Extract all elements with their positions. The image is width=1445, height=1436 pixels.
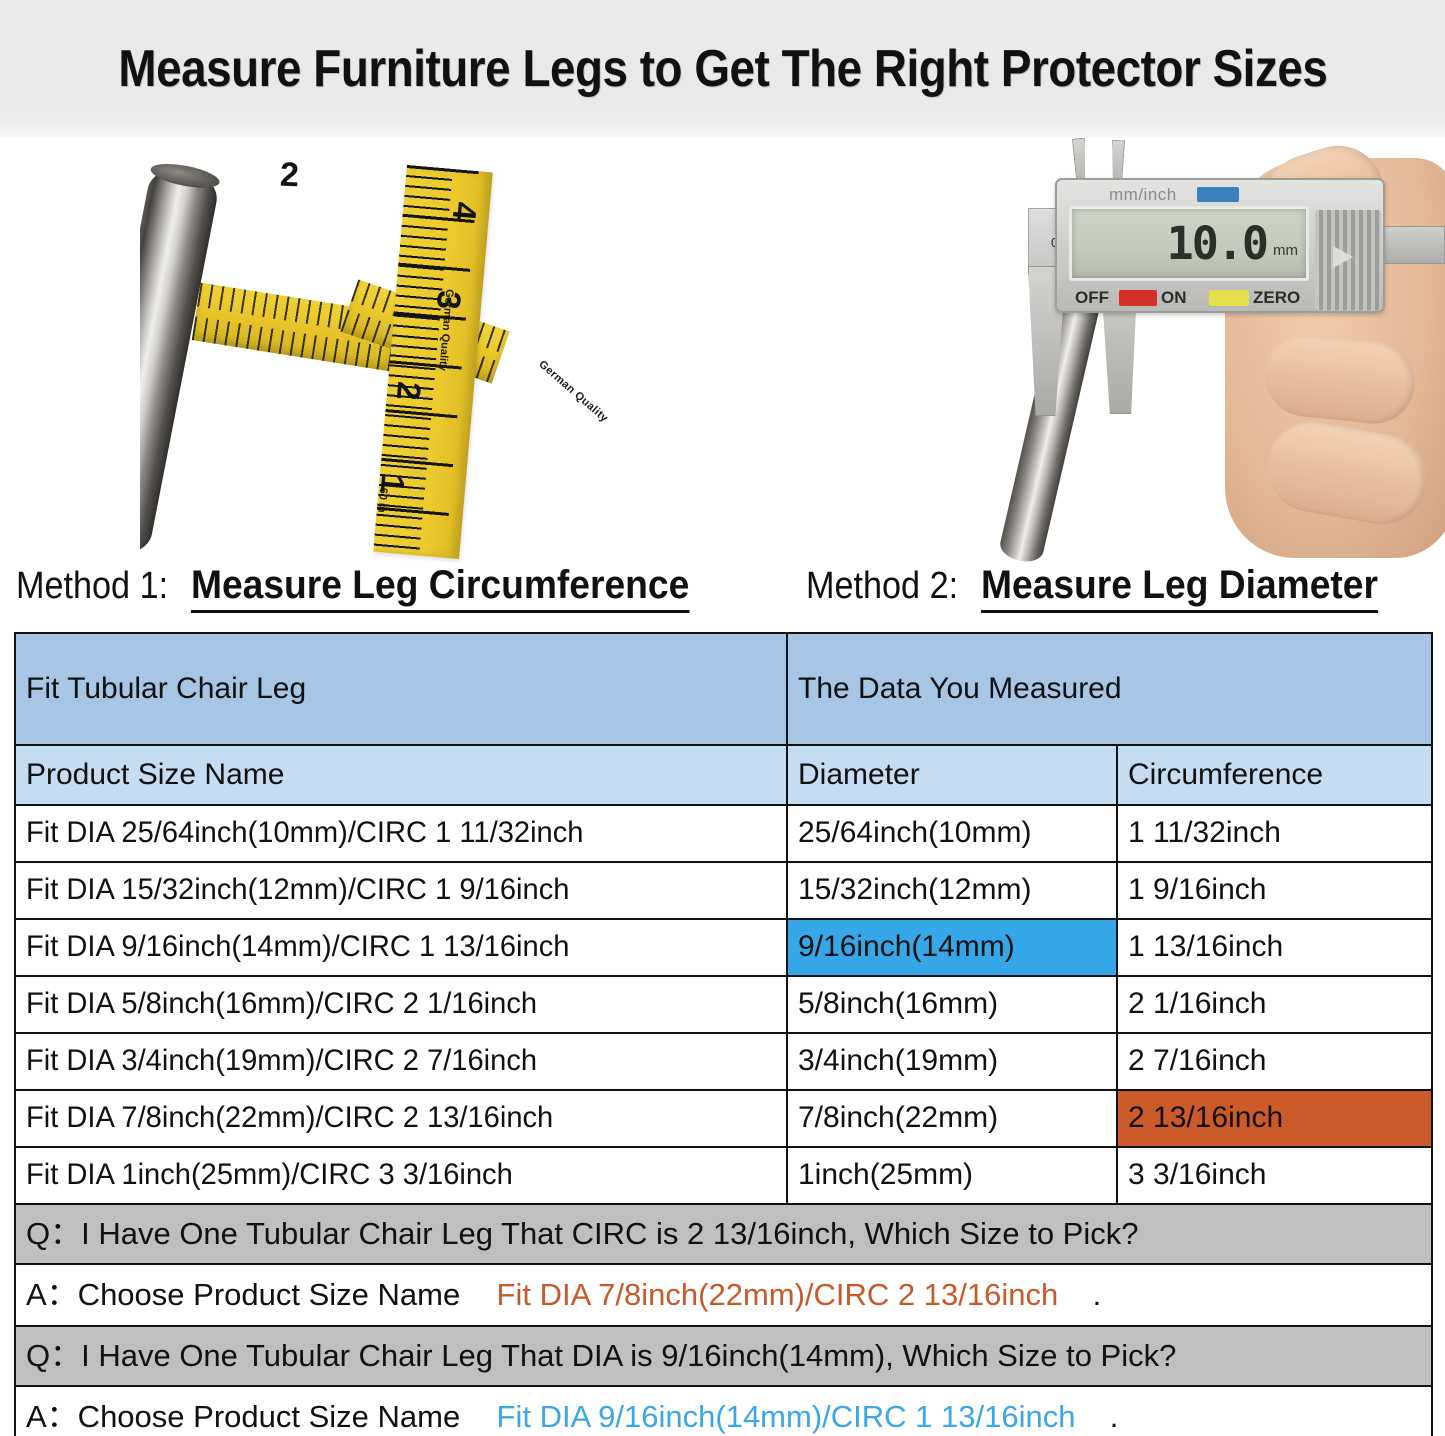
cell-circumference: 2 1/16inch <box>1117 976 1432 1033</box>
method-labels: Method 1: Measure Leg Circumference Meth… <box>0 563 1445 625</box>
faq-question-row: Q：I Have One Tubular Chair Leg That DIA … <box>15 1326 1432 1386</box>
cell-circumference: 1 11/32inch <box>1117 805 1432 862</box>
cell-product-size-name: Fit DIA 1inch(25mm)/CIRC 3 3/16inch <box>15 1147 787 1204</box>
method-2: Method 2: Measure Leg Diameter <box>806 563 1408 613</box>
table-row: Fit DIA 5/8inch(16mm)/CIRC 2 1/16inch 5/… <box>15 976 1432 1033</box>
cell-text: Fit DIA 9/16inch(14mm)/CIRC 1 13/16inch <box>26 930 569 965</box>
caliper-off-label: OFF <box>1075 288 1109 308</box>
infographic-page: Measure Furniture Legs to Get The Right … <box>0 0 1445 1436</box>
column-header-diameter: Diameter <box>787 745 1117 805</box>
size-chart-table: Fit Tubular Chair Leg The Data You Measu… <box>14 632 1433 1436</box>
cell-product-size-name: Fit DIA 5/8inch(16mm)/CIRC 2 1/16inch <box>15 976 787 1033</box>
caliper-lcd-screen: 10.0 mm <box>1069 206 1309 281</box>
cell-circumference: 1 9/16inch <box>1117 862 1432 919</box>
cell-diameter: 7/8inch(22mm) <box>787 1090 1117 1147</box>
method-1-prefix: Method 1: <box>16 565 168 608</box>
faq-answer-row: A：Choose Product Size Name Fit DIA 7/8in… <box>15 1264 1432 1326</box>
caliper-display-value: 10.0 <box>1167 221 1267 266</box>
photo-strip: German Quality 2 1 2 3 4 60 in German Qu… <box>0 138 1445 563</box>
cell-text: Fit DIA 1inch(25mm)/CIRC 3 3/16inch <box>26 1158 513 1193</box>
method-2-prefix: Method 2: <box>806 565 958 608</box>
faq-answer-value-2: Fit DIA 9/16inch(14mm)/CIRC 1 13/16inch <box>497 1399 1076 1434</box>
ruler-strip: 1 2 3 4 60 in German Quality <box>373 165 492 559</box>
group-header-product: Fit Tubular Chair Leg <box>15 633 787 745</box>
caliper-power-button[interactable] <box>1119 290 1157 306</box>
faq-answer-row: A：Choose Product Size Name Fit DIA 9/16i… <box>15 1386 1432 1436</box>
table-row: Fit DIA 25/64inch(10mm)/CIRC 1 11/32inch… <box>15 805 1432 862</box>
title-banner: Measure Furniture Legs to Get The Right … <box>0 0 1445 138</box>
tape-brand-label: German Quality <box>536 358 610 424</box>
caliper-unit-toggle-label[interactable]: mm/inch <box>1109 185 1177 205</box>
photo-leg-circumference: German Quality 2 1 2 3 4 60 in German Qu… <box>140 148 620 563</box>
faq-answer-1: A：Choose Product Size Name Fit DIA 7/8in… <box>15 1264 1432 1326</box>
table-column-header-row: Product Size Name Diameter Circumference <box>15 745 1432 805</box>
cell-diameter-highlighted: 9/16inch(14mm) <box>787 919 1117 976</box>
table-row: Fit DIA 1inch(25mm)/CIRC 3 3/16inch 1inc… <box>15 1147 1432 1204</box>
cell-text: Fit DIA 5/8inch(16mm)/CIRC 2 1/16inch <box>26 987 537 1022</box>
faq-answer-label-2: A：Choose Product Size Name <box>26 1399 460 1434</box>
chair-leg-tube <box>140 163 221 559</box>
cell-text: Fit DIA 7/8inch(22mm)/CIRC 2 13/16inch <box>26 1101 553 1136</box>
faq-answer-trailing-1: . <box>1093 1277 1102 1312</box>
cell-text: Fit DIA 15/32inch(12mm)/CIRC 1 9/16inch <box>26 873 569 908</box>
caliper-body: mm/inch 10.0 mm OFF ON ZERO <box>1055 178 1385 313</box>
cell-circumference-highlighted: 2 13/16inch <box>1117 1090 1432 1147</box>
cell-diameter: 15/32inch(12mm) <box>787 862 1117 919</box>
ruler-major-ticks <box>373 165 479 558</box>
table-group-header-row: Fit Tubular Chair Leg The Data You Measu… <box>15 633 1432 745</box>
faq-question-1: Q：I Have One Tubular Chair Leg That CIRC… <box>15 1204 1432 1264</box>
cell-diameter: 3/4inch(19mm) <box>787 1033 1117 1090</box>
method-2-label: Measure Leg Diameter <box>981 563 1378 613</box>
caliper-zero-label: ZERO <box>1253 288 1300 308</box>
method-1-label: Measure Leg Circumference <box>191 563 689 613</box>
column-header-circumference: Circumference <box>1117 745 1432 805</box>
caliper-display-unit: mm <box>1273 228 1298 259</box>
cell-diameter: 25/64inch(10mm) <box>787 805 1117 862</box>
tape-number-label: 2 <box>279 156 299 196</box>
caliper-unit-button[interactable] <box>1197 187 1239 202</box>
cell-text: Fit DIA 25/64inch(10mm)/CIRC 1 11/32inch <box>26 816 583 851</box>
caliper-arrow-icon <box>1333 246 1353 268</box>
column-header-product-size-name: Product Size Name <box>15 745 787 805</box>
faq-answer-label-1: A：Choose Product Size Name <box>26 1277 460 1312</box>
cell-product-size-name: Fit DIA 9/16inch(14mm)/CIRC 1 13/16inch <box>15 919 787 976</box>
cell-circumference: 2 7/16inch <box>1117 1033 1432 1090</box>
table-row: Fit DIA 15/32inch(12mm)/CIRC 1 9/16inch … <box>15 862 1432 919</box>
cell-circumference: 3 3/16inch <box>1117 1147 1432 1204</box>
cell-product-size-name: Fit DIA 15/32inch(12mm)/CIRC 1 9/16inch <box>15 862 787 919</box>
faq-answer-2: A：Choose Product Size Name Fit DIA 9/16i… <box>15 1386 1432 1436</box>
cell-product-size-name: Fit DIA 7/8inch(22mm)/CIRC 2 13/16inch <box>15 1090 787 1147</box>
caliper-rail <box>1380 226 1445 264</box>
faq-question-2: Q：I Have One Tubular Chair Leg That DIA … <box>15 1326 1432 1386</box>
method-1: Method 1: Measure Leg Circumference <box>16 563 727 613</box>
ruler-number-2: 2 <box>389 380 428 402</box>
cell-circumference: 1 13/16inch <box>1117 919 1432 976</box>
group-header-measured: The Data You Measured <box>787 633 1432 745</box>
cell-product-size-name: Fit DIA 25/64inch(10mm)/CIRC 1 11/32inch <box>15 805 787 862</box>
ruler-length-label: 60 in <box>375 487 389 513</box>
cell-product-size-name: Fit DIA 3/4inch(19mm)/CIRC 2 7/16inch <box>15 1033 787 1090</box>
caliper-on-label: ON <box>1161 288 1187 308</box>
cell-diameter: 1inch(25mm) <box>787 1147 1117 1204</box>
page-title: Measure Furniture Legs to Get The Right … <box>118 43 1327 95</box>
cell-diameter: 5/8inch(16mm) <box>787 976 1117 1033</box>
photo-leg-diameter: 0 10 1 2 3 mm/inch 10.0 mm OFF ON ZERO <box>1000 138 1445 563</box>
table-row: Fit DIA 9/16inch(14mm)/CIRC 1 13/16inch … <box>15 919 1432 976</box>
faq-answer-trailing-2: . <box>1110 1399 1119 1434</box>
faq-answer-value-1: Fit DIA 7/8inch(22mm)/CIRC 2 13/16inch <box>497 1277 1059 1312</box>
faq-question-row: Q：I Have One Tubular Chair Leg That CIRC… <box>15 1204 1432 1264</box>
ruler-number-4: 4 <box>445 200 484 222</box>
caliper-zero-button[interactable] <box>1209 290 1249 306</box>
cell-text: Fit DIA 3/4inch(19mm)/CIRC 2 7/16inch <box>26 1044 537 1079</box>
table-row: Fit DIA 3/4inch(19mm)/CIRC 2 7/16inch 3/… <box>15 1033 1432 1090</box>
table-row: Fit DIA 7/8inch(22mm)/CIRC 2 13/16inch 7… <box>15 1090 1432 1147</box>
